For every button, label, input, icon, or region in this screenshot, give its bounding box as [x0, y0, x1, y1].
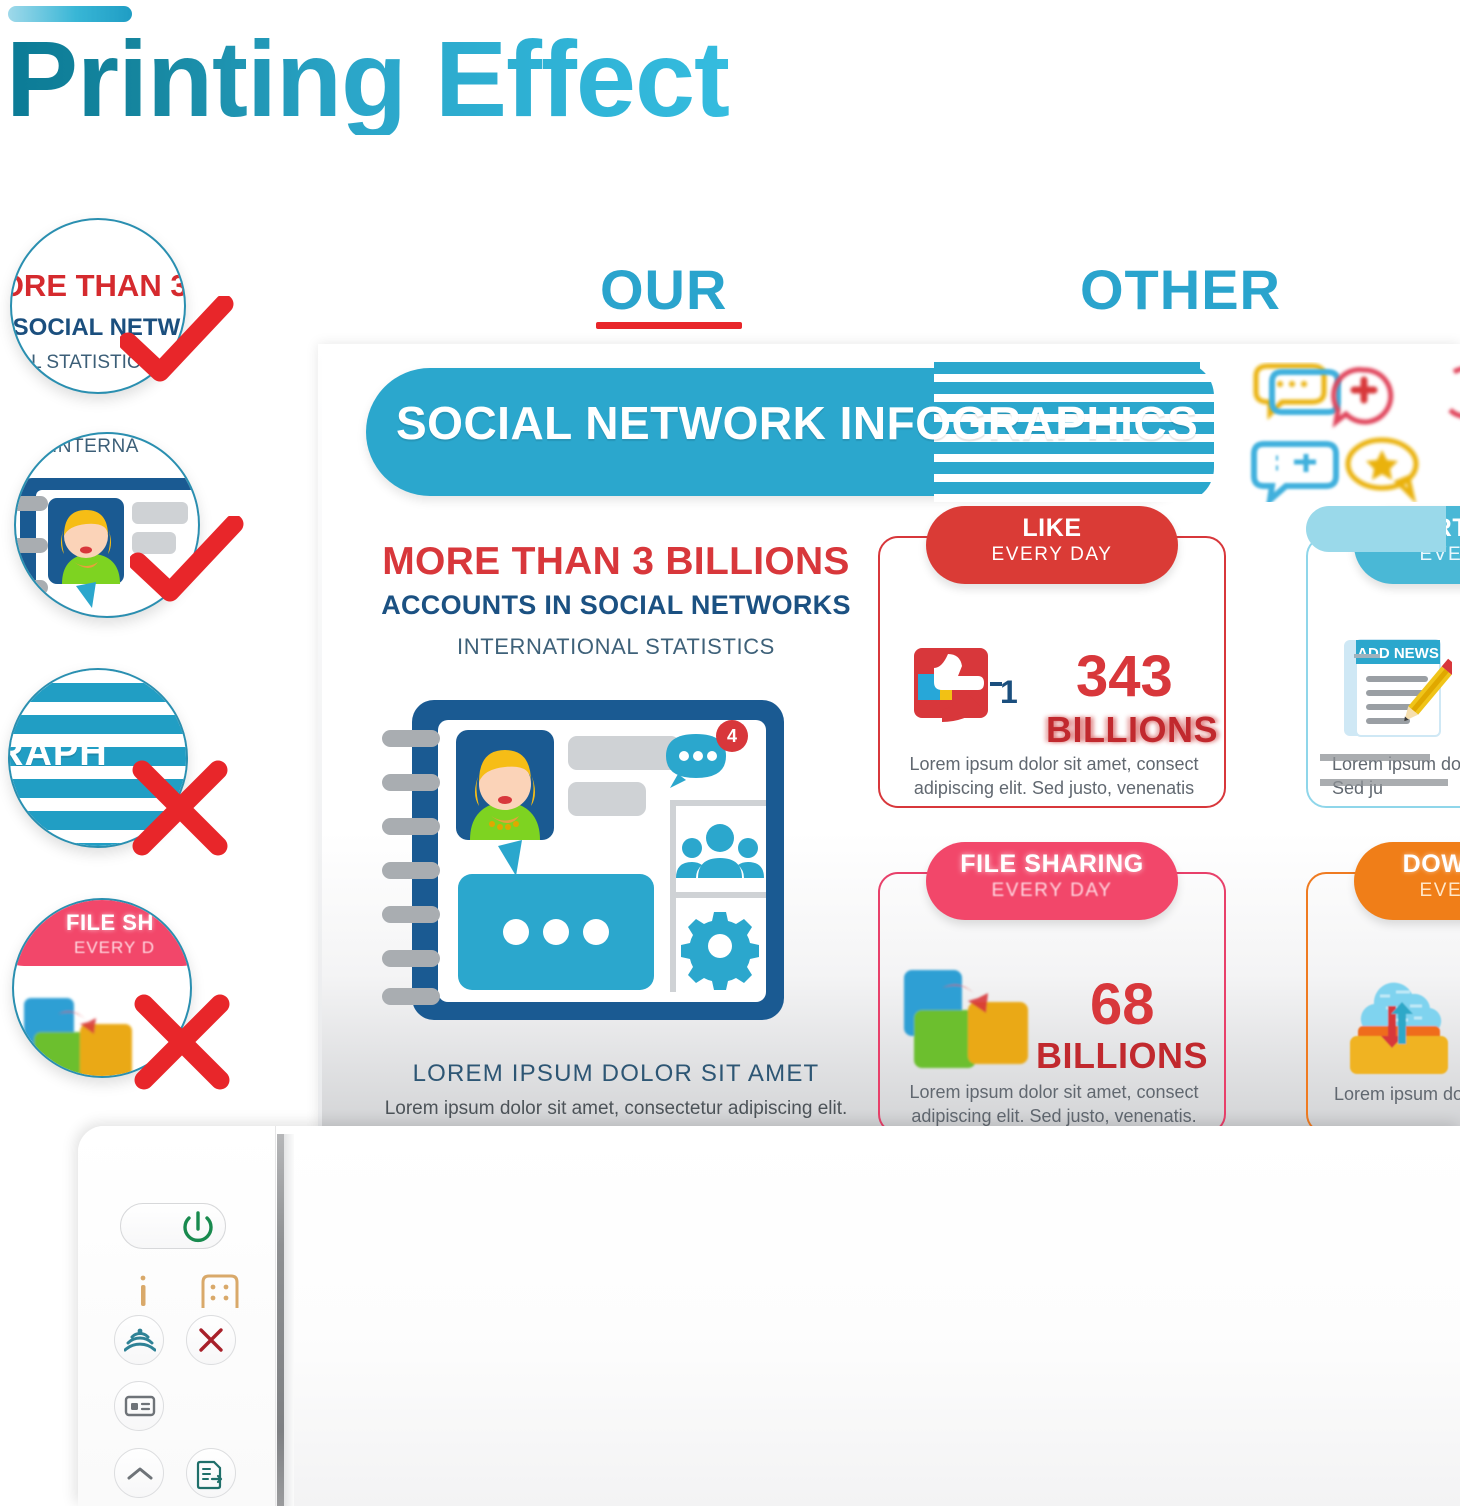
callout-avatar-label: INTERNA	[52, 436, 139, 458]
callout-file-sub: EVERY D	[74, 938, 155, 958]
card-articles-pill-ghost	[1306, 506, 1446, 552]
power-icon[interactable]	[178, 1207, 218, 1247]
column-header-our: OUR	[600, 262, 727, 318]
left-footer-title: LOREM IPSUM DOLOR SIT AMET	[366, 1060, 866, 1088]
notebook-mini-icon	[14, 462, 200, 618]
callout-file-title: FILE SH	[66, 910, 154, 936]
callout-banner-banding: RAPH	[8, 668, 188, 848]
file-stack-mini-icon	[18, 992, 168, 1078]
card-download: DOWNLOAD EVERY DAY BI Lorem ipsum dolor …	[1306, 872, 1460, 1132]
callout-headline-line3: ONAL STATISTICS	[10, 352, 186, 374]
stat-caption: INTERNATIONAL STATISTICS	[366, 634, 866, 660]
news-pencil-icon: ADD NEWS	[1338, 632, 1452, 744]
card-file-sharing: FILE SHARING EVERY DAY 68 BILLIONS Lorem…	[878, 872, 1226, 1132]
wifi-icon[interactable]	[124, 1327, 156, 1355]
banding-stripes	[10, 670, 186, 846]
card-articles-streak-1	[1320, 754, 1430, 761]
cancel-x-icon[interactable]	[197, 1326, 225, 1354]
page-title: Printing Effect	[6, 22, 729, 135]
cloud-folder-icon	[1336, 960, 1460, 1080]
callout-headline: MORE THAN 3 BILL IN SOCIAL NETW ONAL STA…	[10, 218, 186, 394]
file-stack-icon	[896, 964, 1046, 1082]
callout-headline-line2: IN SOCIAL NETW	[10, 314, 186, 342]
scan-document-icon[interactable]	[196, 1459, 228, 1491]
card-file-sharing-subtitle: EVERY DAY	[926, 877, 1178, 906]
column-header-other: OTHER	[1080, 262, 1281, 318]
card-file-sharing-unit: BILLIONS	[1036, 1038, 1208, 1074]
infographic-banner-text: SOCIAL NETWORK INFOGRAPHICS	[396, 396, 1198, 450]
card-like-unit: BILLIONS	[1046, 712, 1218, 748]
corner-chat-icons	[1248, 362, 1460, 502]
stat-headline: MORE THAN 3 BILLIONS	[366, 540, 866, 584]
card-like-value: 343	[1076, 648, 1173, 706]
notebook-illustration: 4	[382, 696, 792, 1032]
card-file-sharing-pill: FILE SHARING EVERY DAY	[926, 842, 1178, 920]
card-download-subtitle: EVERY DAY	[1354, 877, 1460, 906]
card-download-pill: DOWNLOAD EVERY DAY	[1354, 842, 1460, 920]
callout-avatar: INTERNA	[14, 432, 200, 618]
printer-seam	[277, 1134, 284, 1506]
card-download-body: Lorem ipsum dolor s adipiscing elit. Sed	[1320, 1082, 1460, 1106]
sheet-left-edge	[318, 344, 322, 1132]
callout-file-sharing: FILE SH EVERY D	[12, 898, 192, 1078]
card-like-pill: LIKE EVERY DAY	[926, 506, 1178, 584]
printer-front-lid	[78, 1126, 276, 1506]
printed-sheet: SOCIAL NETWORK INFOGRAPHICS	[318, 344, 1460, 1132]
printer-seam-highlight	[284, 1134, 294, 1506]
card-like-badge: 1	[1000, 674, 1018, 711]
news-icon-label: ADD NEWS	[1357, 645, 1439, 662]
card-file-sharing-value: 68	[1090, 976, 1155, 1034]
card-like-body: Lorem ipsum dolor sit amet, consect adip…	[894, 752, 1214, 801]
card-file-sharing-body: Lorem ipsum dolor sit amet, consect adip…	[894, 1080, 1214, 1129]
stat-subhead: ACCOUNTS IN SOCIAL NETWORKS	[366, 590, 866, 621]
card-file-sharing-title: FILE SHARING	[926, 851, 1178, 877]
id-card-icon[interactable]	[124, 1394, 156, 1418]
thumbs-up-icon	[912, 644, 992, 722]
card-articles-streak-2	[1320, 779, 1448, 786]
card-like: LIKE EVERY DAY 1 343 BILLIONS Lorem ipsu…	[878, 536, 1226, 808]
svg-text:4: 4	[727, 726, 737, 746]
card-like-title: LIKE	[926, 515, 1178, 541]
chevron-up-icon[interactable]	[126, 1464, 154, 1484]
info-icon[interactable]	[132, 1272, 154, 1312]
card-articles: ARTICLES EVERY DAY ADD NEWS	[1306, 536, 1460, 808]
card-download-title: DOWNLOAD	[1354, 851, 1460, 877]
callout-headline-line1: MORE THAN 3 BILL	[10, 268, 186, 304]
column-header-our-underline	[596, 322, 742, 329]
ink-cartridge-icon[interactable]	[198, 1272, 242, 1312]
card-like-subtitle: EVERY DAY	[926, 541, 1178, 570]
card-like-badge-tick	[990, 682, 1002, 686]
